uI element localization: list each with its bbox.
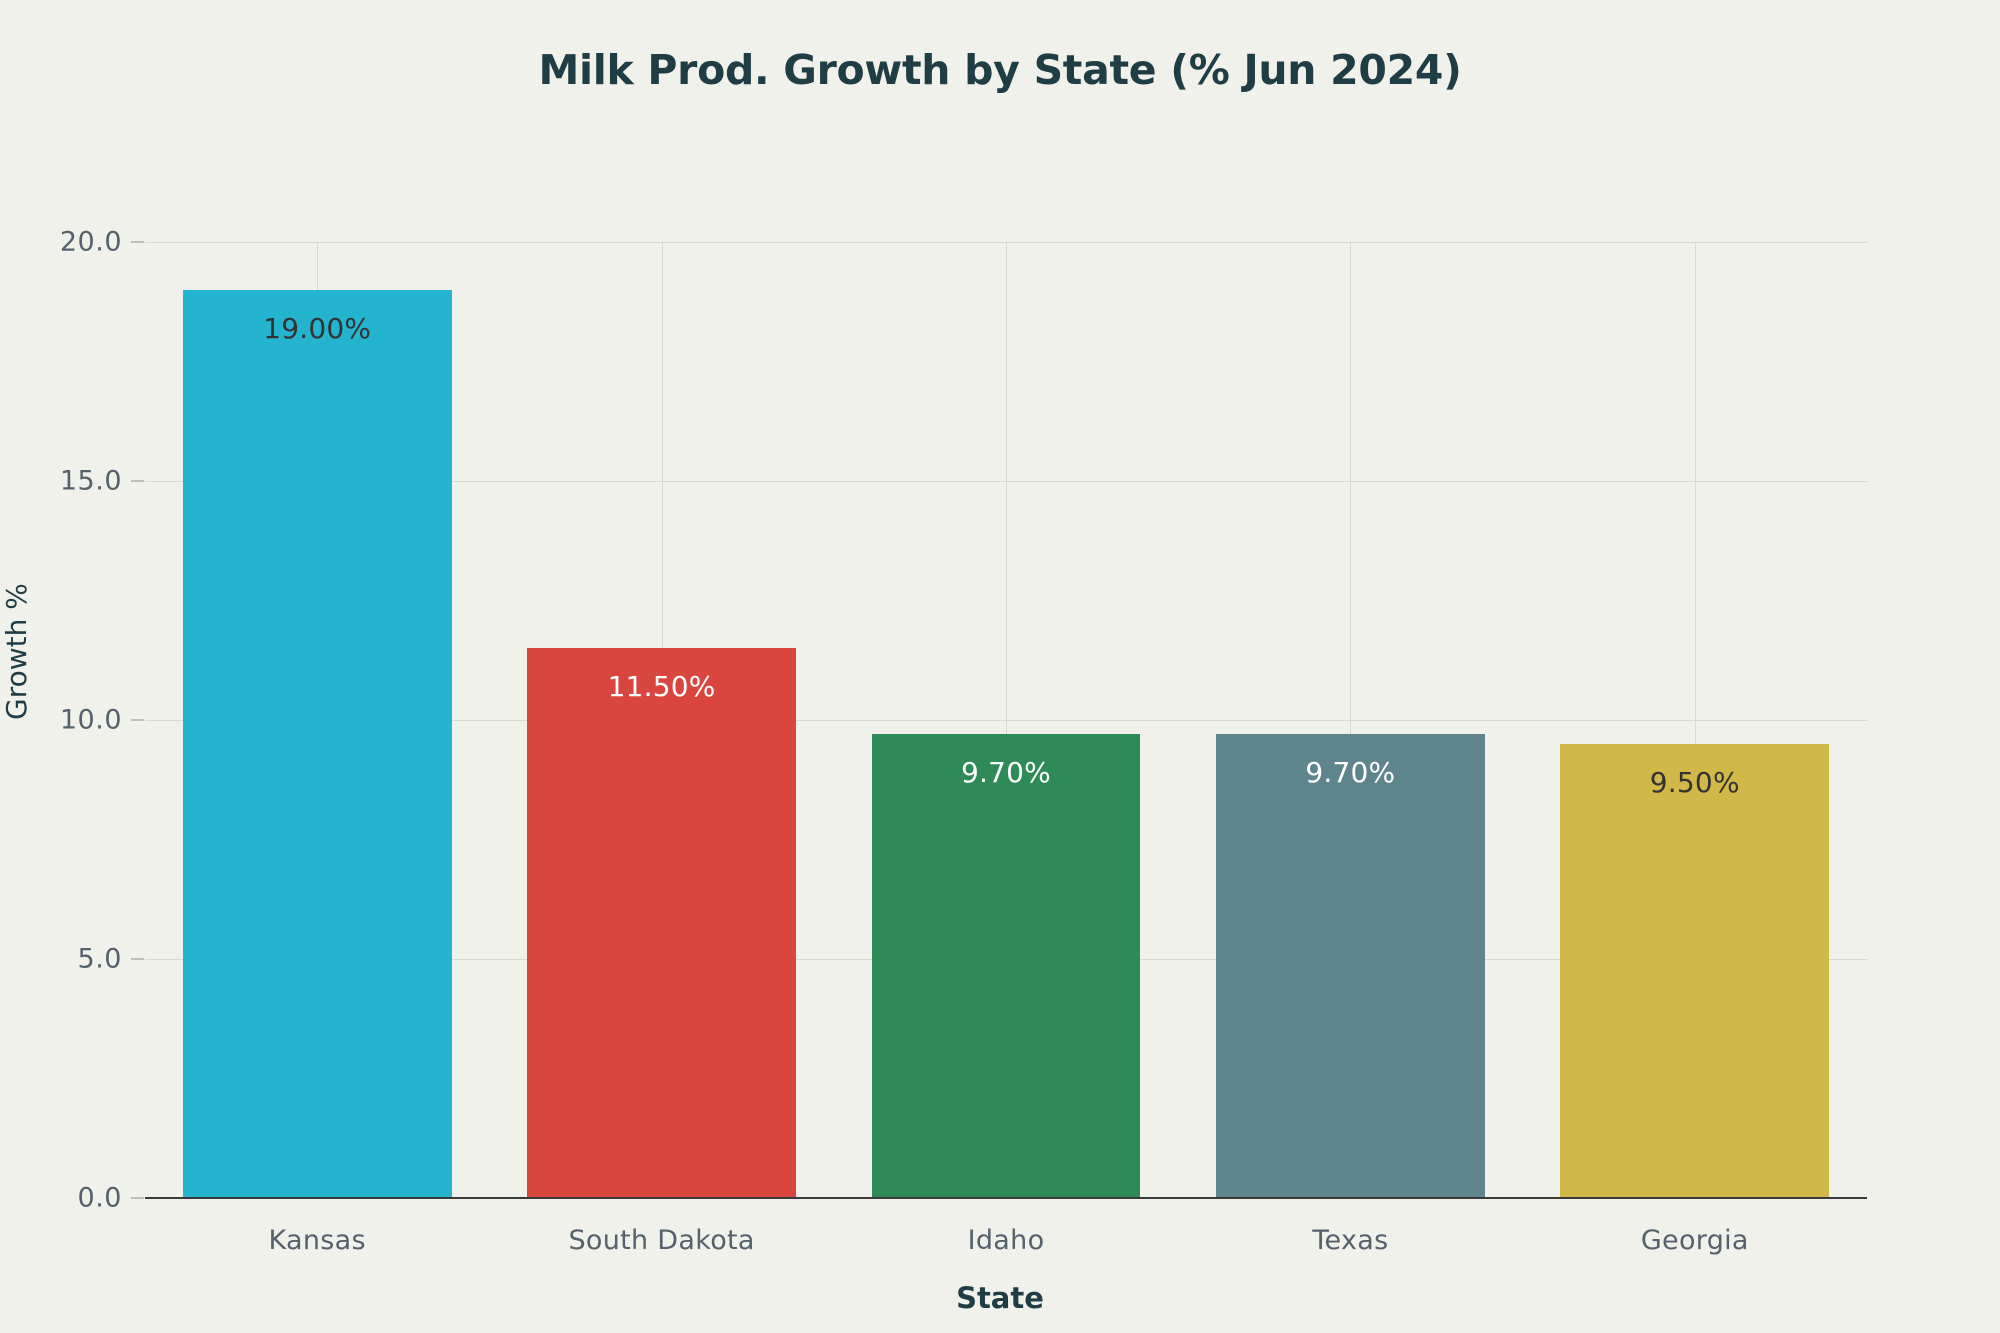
x-axis-line [145, 1197, 1867, 1199]
y-tick-mark [131, 720, 144, 721]
x-tick-label-kansas: Kansas [269, 1225, 366, 1256]
y-tick-mark [131, 481, 144, 482]
bar-value-label: 11.50% [527, 670, 796, 703]
x-tick-label-south-dakota: South Dakota [568, 1225, 754, 1256]
y-axis-title: Growth % [0, 583, 33, 720]
chart-title: Milk Prod. Growth by State (% Jun 2024) [0, 46, 2000, 94]
y-tick-label: 5.0 [78, 944, 122, 975]
y-tick-label: 10.0 [60, 705, 122, 736]
x-tick-label-georgia: Georgia [1641, 1225, 1749, 1256]
bar-value-label: 9.70% [872, 756, 1141, 789]
y-tick-label: 15.0 [60, 466, 122, 497]
bar-south-dakota[interactable]: 11.50% [527, 648, 796, 1198]
x-tick-label-idaho: Idaho [968, 1225, 1045, 1256]
bar-texas[interactable]: 9.70% [1216, 734, 1485, 1198]
bar-idaho[interactable]: 9.70% [872, 734, 1141, 1198]
bar-georgia[interactable]: 9.50% [1560, 744, 1829, 1198]
bar-value-label: 9.70% [1216, 756, 1485, 789]
plot-area: 19.00%11.50%9.70%9.70%9.50% [145, 242, 1867, 1198]
chart-figure: Milk Prod. Growth by State (% Jun 2024) … [0, 0, 2000, 1333]
y-tick-mark [131, 959, 144, 960]
y-tick-mark [131, 1198, 144, 1199]
bar-value-label: 9.50% [1560, 766, 1829, 799]
bar-kansas[interactable]: 19.00% [183, 290, 452, 1198]
x-axis-title: State [0, 1281, 2000, 1315]
y-tick-mark [131, 242, 144, 243]
x-tick-label-texas: Texas [1312, 1225, 1388, 1256]
y-tick-label: 20.0 [60, 227, 122, 258]
bar-value-label: 19.00% [183, 312, 452, 345]
y-tick-label: 0.0 [78, 1183, 122, 1214]
